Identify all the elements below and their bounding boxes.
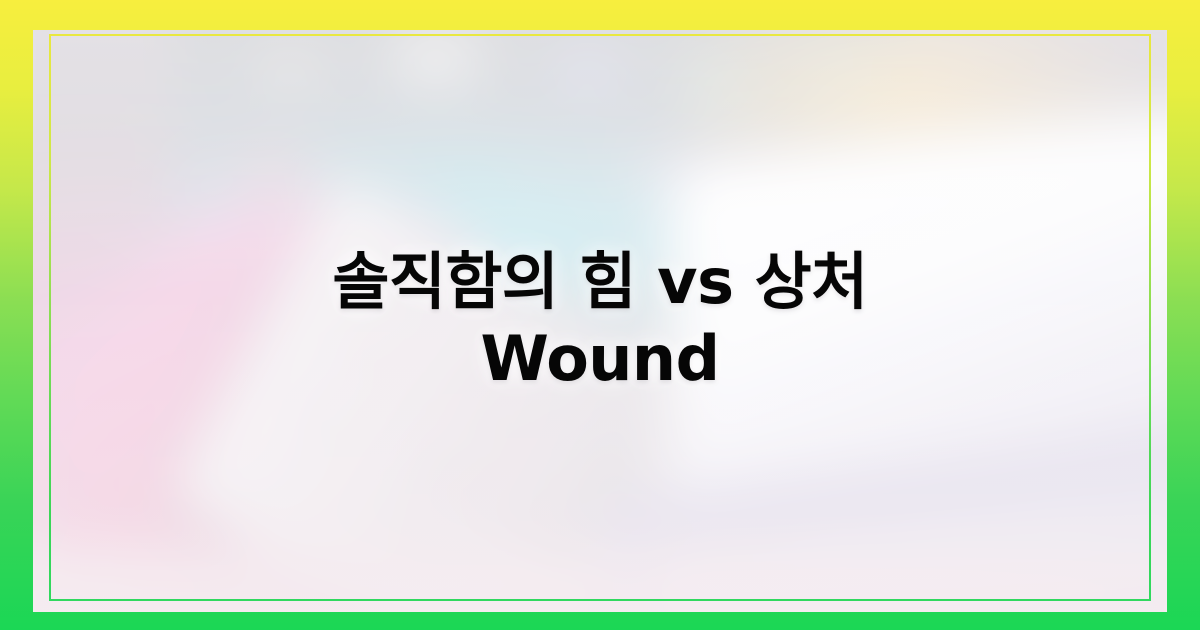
photo-plate: 솔직함의 힘 vs 상처Wound (33, 30, 1167, 612)
title-line-1: 솔직함의 힘 vs 상처 (332, 245, 867, 318)
title-line-2: Wound (332, 321, 867, 398)
thumbnail-card: 솔직함의 힘 vs 상처Wound (0, 0, 1200, 630)
title-block: 솔직함의 힘 vs 상처Wound (33, 30, 1167, 612)
page-title: 솔직함의 힘 vs 상처Wound (332, 244, 867, 398)
